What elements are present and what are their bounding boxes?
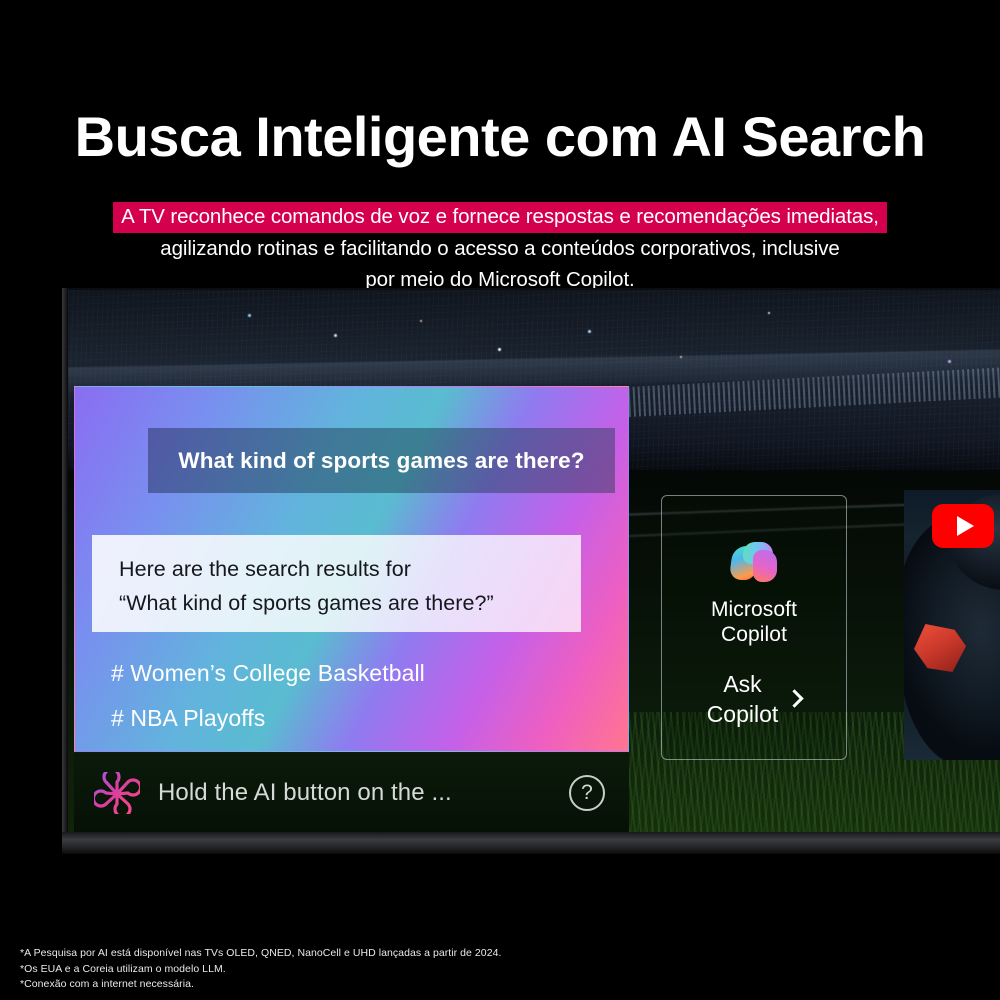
answer-line-1: Here are the search results for: [119, 552, 581, 586]
copilot-title: Microsoft Copilot: [711, 597, 797, 647]
video-tile[interactable]: [904, 490, 1000, 760]
chevron-right-icon: [786, 689, 804, 707]
result-item-2[interactable]: # NBA Playoffs: [111, 705, 265, 732]
footer-line-3: *Conexão com a internet necessária.: [20, 977, 720, 993]
help-icon[interactable]: ?: [569, 775, 605, 811]
ai-search-panel: What kind of sports games are there? Her…: [74, 386, 629, 752]
answer-line-2: “What kind of sports games are there?”: [119, 586, 581, 620]
legal-footer: *A Pesquisa por AI está disponível nas T…: [20, 946, 720, 993]
footer-line-2: *Os EUA e a Coreia utilizam o modelo LLM…: [20, 962, 720, 978]
ask-copilot-line-2: Copilot: [707, 701, 779, 727]
subheading-line-2: agilizando rotinas e facilitando o acess…: [0, 233, 1000, 264]
ask-copilot-button[interactable]: Ask Copilot: [707, 669, 802, 729]
ai-loop-icon: [94, 772, 140, 814]
subheading-highlight-line: A TV reconhece comandos de voz e fornece…: [113, 202, 887, 233]
play-triangle-icon: [957, 516, 974, 536]
page-title: Busca Inteligente com AI Search: [0, 108, 1000, 167]
subheading-block: A TV reconhece comandos de voz e fornece…: [0, 202, 1000, 295]
youtube-icon[interactable]: [932, 504, 994, 548]
result-item-1[interactable]: # Women’s College Basketball: [111, 660, 425, 687]
tv-stand: [62, 832, 1000, 854]
tv-screen: Microsoft Copilot Ask Copilot What kind …: [68, 290, 1000, 832]
search-answer-card: Here are the search results for “What ki…: [92, 535, 581, 632]
tv-device: Microsoft Copilot Ask Copilot What kind …: [62, 288, 1000, 854]
footer-line-1: *A Pesquisa por AI está disponível nas T…: [20, 946, 720, 962]
microsoft-copilot-icon: [731, 542, 777, 584]
ai-hint-bar: Hold the AI button on the ... ?: [74, 753, 629, 832]
tv-bezel-left: [62, 288, 67, 854]
promo-page: Busca Inteligente com AI Search A TV rec…: [0, 0, 1000, 1000]
voice-query-bubble: What kind of sports games are there?: [148, 428, 615, 493]
copilot-card[interactable]: Microsoft Copilot Ask Copilot: [661, 495, 847, 760]
voice-query-text: What kind of sports games are there?: [178, 448, 584, 474]
copilot-title-line-2: Copilot: [721, 623, 787, 646]
ask-copilot-line-1: Ask: [723, 671, 761, 697]
copilot-title-line-1: Microsoft: [711, 598, 797, 621]
ai-hint-text: Hold the AI button on the ...: [158, 779, 569, 807]
